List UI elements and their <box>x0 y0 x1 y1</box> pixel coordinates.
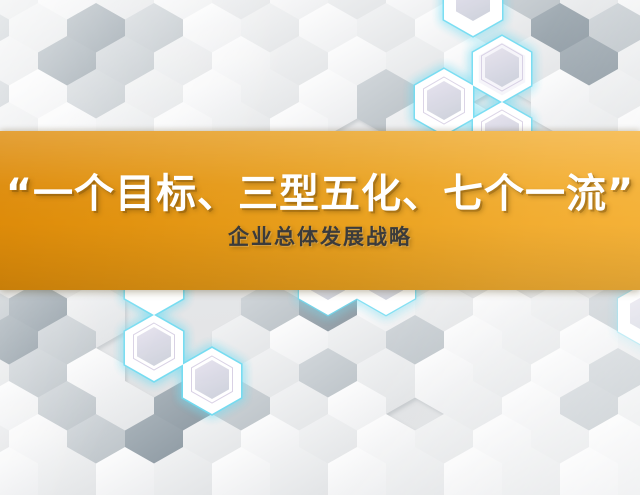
title-banner: “一个目标、三型五化、七个一流” 企业总体发展战略 <box>0 131 640 290</box>
title-slide: “一个目标、三型五化、七个一流” 企业总体发展战略 <box>0 0 640 495</box>
page-subtitle: 企业总体发展战略 <box>228 226 412 249</box>
banner-content: “一个目标、三型五化、七个一流” 企业总体发展战略 <box>0 131 640 290</box>
page-title: “一个目标、三型五化、七个一流” <box>6 172 635 216</box>
